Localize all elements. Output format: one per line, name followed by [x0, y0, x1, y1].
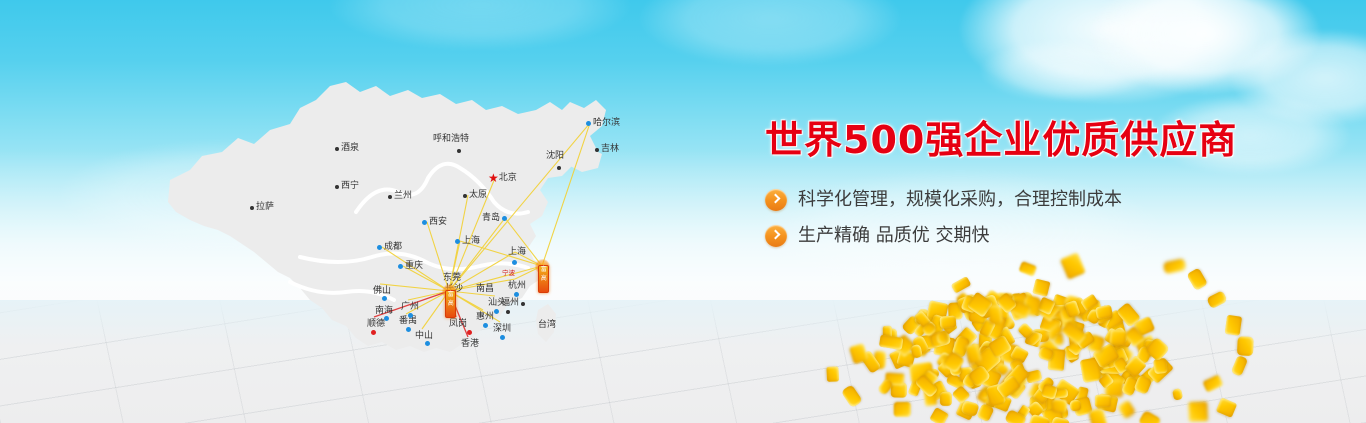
map-city-jilin[interactable]: 吉林 — [593, 145, 619, 155]
city-dot-icon — [502, 216, 507, 221]
plastic-pellet — [1153, 358, 1167, 374]
map-city-jiuquan[interactable]: 酒泉 — [333, 144, 359, 154]
map-city-hohhot[interactable]: 呼和浩特 — [433, 135, 469, 145]
plastic-pellet — [1225, 315, 1242, 335]
city-dot-shunde — [369, 329, 378, 338]
plastic-pellet — [940, 391, 952, 405]
plastic-pellet — [1069, 399, 1081, 411]
plastic-pellet — [1052, 399, 1068, 412]
plastic-pellet — [894, 402, 911, 417]
list-item: 生产精确 品质优 交期快 — [765, 224, 1325, 248]
map-city-shanghai[interactable]: 上海 — [508, 248, 526, 258]
city-dot-icon — [398, 264, 403, 269]
cloud-shape — [640, 0, 900, 66]
map-city-lhasa[interactable]: 拉萨 — [248, 203, 274, 213]
cloud-shape — [980, 40, 1150, 102]
plastic-pellet — [879, 334, 903, 350]
city-dot-shenzhen — [498, 334, 507, 343]
city-dot-hongkong — [465, 329, 474, 338]
city-dot-guangzhou — [406, 312, 415, 321]
map-city-wuhan[interactable]: 上海 — [453, 237, 480, 247]
page-title: 世界500强企业优质供应商 — [765, 118, 1325, 162]
map-city-xian[interactable]: 西安 — [420, 218, 447, 228]
list-item: 科学化管理，规模化采购，合理控制成本 — [765, 188, 1325, 212]
plastic-pellet — [988, 305, 1003, 325]
plastic-pellet — [1216, 397, 1237, 418]
promo-banner: 酒泉 呼和浩特 哈尔滨 吉林 沈阳 ★北京 西宁 兰州 太原 拉萨 西安 青岛 … — [0, 0, 1366, 423]
cloud-shape — [1090, 0, 1320, 94]
map-city-beijing[interactable]: ★北京 — [488, 174, 517, 184]
plastic-pellet — [1231, 355, 1249, 377]
plastic-pellet — [951, 276, 971, 293]
plastic-pellet — [826, 366, 839, 382]
arrow-right-circle-icon — [765, 189, 787, 211]
plastic-pellet — [1051, 416, 1070, 423]
city-dot-icon — [335, 147, 339, 151]
capital-star-icon: ★ — [488, 171, 499, 185]
feature-text: 生产精确 品质优 交期快 — [798, 224, 989, 248]
plastic-pellets-image — [820, 250, 1260, 423]
plastic-pellet — [1138, 410, 1162, 423]
map-city-xining[interactable]: 西宁 — [333, 182, 359, 192]
plastic-pellet — [940, 315, 957, 328]
city-dot-icon — [586, 121, 591, 126]
plastic-pellet — [1095, 395, 1111, 407]
plastic-pellet — [1202, 375, 1223, 393]
map-city-harbin[interactable]: 哈尔滨 — [584, 119, 620, 129]
map-city-taiwan[interactable]: 台湾 — [538, 320, 556, 332]
city-dot-icon — [463, 194, 467, 198]
plastic-pellet — [1188, 401, 1208, 422]
map-city-taiyuan[interactable]: 太原 — [461, 191, 487, 201]
city-dot-hangzhou — [512, 291, 521, 300]
cloud-shape — [960, 0, 1260, 104]
plastic-pellet — [1172, 388, 1183, 401]
plastic-pellet — [1032, 278, 1050, 296]
city-dot-icon — [521, 302, 525, 306]
china-map-svg — [150, 52, 620, 382]
map-city-chongqing[interactable]: 重庆 — [396, 262, 423, 272]
feature-text: 科学化管理，规模化采购，合理控制成本 — [798, 188, 1122, 212]
map-branch-label-ningbo: 宁波 — [502, 267, 515, 277]
plastic-pellet — [1163, 258, 1187, 275]
arrow-right-circle-icon — [765, 225, 787, 247]
city-dot-icon — [455, 239, 460, 244]
plastic-pellet — [1186, 267, 1208, 290]
map-city-dongguan[interactable]: 东莞 — [443, 274, 461, 284]
city-dot-icon — [250, 206, 254, 210]
cloud-shape — [330, 0, 630, 50]
plastic-pellet — [1237, 336, 1254, 355]
city-dot-huizhou — [481, 322, 490, 331]
hq-marker-ningbo[interactable]: 富高 — [538, 265, 549, 293]
hq-marker-dongguan[interactable]: 富高 — [445, 290, 456, 318]
banner-copy: 世界500强企业优质供应商 科学化管理，规模化采购，合理控制成本 生产精确 品质… — [765, 118, 1325, 260]
map-city-qingdao[interactable]: 青岛 — [482, 214, 509, 224]
plastic-pellet — [930, 407, 950, 423]
city-dot-icon — [422, 220, 427, 225]
city-dot-icon — [377, 245, 382, 250]
map-city-nanchang[interactable]: 南昌 — [476, 285, 494, 295]
map-city-shenyang[interactable]: 沈阳 — [546, 152, 564, 162]
city-dot-zhongshan — [423, 340, 432, 349]
plastic-pellet — [1117, 400, 1136, 419]
city-dot-icon — [335, 185, 339, 189]
city-dot-icon — [595, 148, 599, 152]
plastic-pellet — [1019, 262, 1037, 277]
city-dot-nanhai — [382, 315, 391, 324]
plastic-pellet — [910, 344, 923, 358]
china-distribution-map: 酒泉 呼和浩特 哈尔滨 吉林 沈阳 ★北京 西宁 兰州 太原 拉萨 西安 青岛 … — [150, 52, 620, 382]
city-dot-panyu — [404, 326, 413, 335]
city-dot-icon — [455, 147, 459, 156]
cloud-shape — [1230, 30, 1366, 125]
map-city-chengdu[interactable]: 成都 — [375, 243, 402, 253]
city-dot-shantou — [492, 308, 501, 317]
map-city-hongkong[interactable]: 香港 — [461, 340, 479, 350]
city-dot-foshan — [380, 295, 389, 304]
city-dot-icon — [555, 164, 559, 173]
city-dot-fuzhou — [504, 308, 512, 317]
plastic-pellet — [1206, 291, 1227, 310]
plastic-pellet — [1060, 252, 1086, 279]
city-dot-icon — [388, 195, 392, 199]
plastic-pellet — [1109, 329, 1126, 346]
map-city-lanzhou[interactable]: 兰州 — [386, 192, 412, 202]
feature-list: 科学化管理，规模化采购，合理控制成本 生产精确 品质优 交期快 — [765, 188, 1325, 248]
plastic-pellet — [841, 385, 863, 408]
